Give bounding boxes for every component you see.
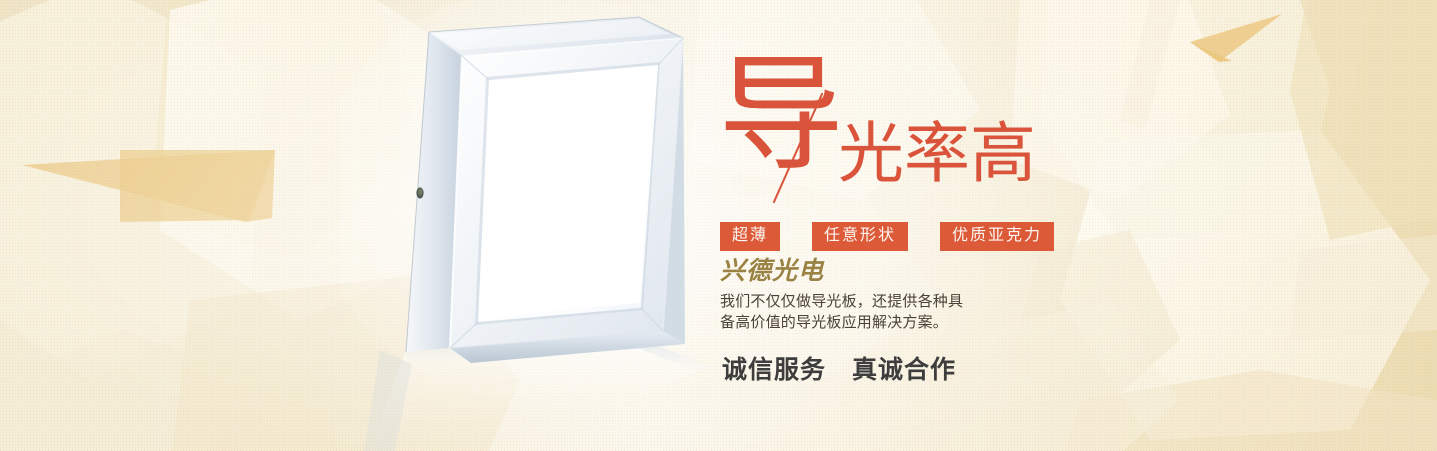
feature-badge-any-shape[interactable]: 任意形状 <box>812 222 908 251</box>
banner-tagline: 诚信服务 真诚合作 <box>722 355 956 385</box>
feature-badge-premium-acrylic[interactable]: 优质亚克力 <box>940 222 1054 251</box>
feature-badge-list: 超薄 任意形状 优质亚克力 <box>720 222 1054 251</box>
description-line-2: 备高价值的导光板应用解决方案。 <box>720 313 1010 334</box>
brand-name: 兴德光电 <box>720 259 824 284</box>
feature-badge-ultra-thin[interactable]: 超薄 <box>720 222 780 251</box>
headline-primary-character: 导 <box>718 54 844 180</box>
banner-content: 导 光率高 超薄 任意形状 优质亚克力 兴德光电 我们不仅仅做导光板，还提供各种… <box>714 0 1334 451</box>
promo-banner: 导 光率高 超薄 任意形状 优质亚克力 兴德光电 我们不仅仅做导光板，还提供各种… <box>0 0 1437 451</box>
headline-group: 导 光率高 <box>714 56 1134 206</box>
description-line-1: 我们不仅仅做导光板，还提供各种具 <box>720 292 1010 313</box>
description-text: 我们不仅仅做导光板，还提供各种具 备高价值的导光板应用解决方案。 <box>720 292 1010 334</box>
headline-secondary-text: 光率高 <box>838 122 1036 188</box>
led-panel-product-image <box>340 0 740 451</box>
